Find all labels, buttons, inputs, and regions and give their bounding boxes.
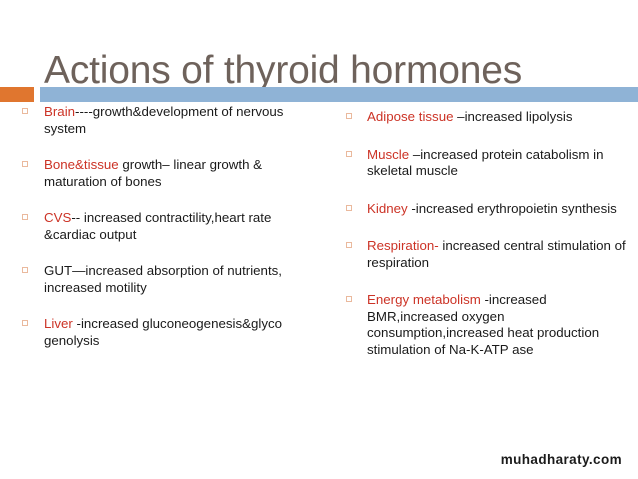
list-item-term: Liver bbox=[44, 316, 73, 331]
list-item-description: -- increased contractility,heart rate &c… bbox=[44, 210, 271, 242]
hollow-square-bullet-icon bbox=[22, 267, 28, 273]
list-item: CVS-- increased contractility,heart rate… bbox=[18, 210, 326, 243]
list-item: Energy metabolism -increased BMR,increas… bbox=[342, 292, 632, 358]
list-item-description: -increased erythropoietin synthesis bbox=[408, 201, 617, 216]
hollow-square-bullet-icon bbox=[22, 108, 28, 114]
hollow-square-bullet-icon bbox=[346, 296, 352, 302]
title-accent-divider bbox=[0, 87, 638, 102]
list-item: Bone&tissue growth– linear growth & matu… bbox=[18, 157, 326, 190]
list-item-term: Kidney bbox=[367, 201, 408, 216]
list-item: Muscle –increased protein catabolism in … bbox=[342, 147, 632, 180]
bullet-column-right: Adipose tissue –increased lipolysis Musc… bbox=[342, 104, 632, 379]
hollow-square-bullet-icon bbox=[346, 113, 352, 119]
list-item-term: Adipose tissue bbox=[367, 109, 453, 124]
bullet-column-left: Brain----growth&development of nervous s… bbox=[18, 104, 326, 369]
hollow-square-bullet-icon bbox=[346, 205, 352, 211]
list-item: Liver -increased gluconeogenesis&glyco g… bbox=[18, 316, 326, 349]
hollow-square-bullet-icon bbox=[346, 151, 352, 157]
list-item: Brain----growth&development of nervous s… bbox=[18, 104, 326, 137]
list-item-description: -increased gluconeogenesis&glyco genolys… bbox=[44, 316, 282, 348]
list-item-description: ----growth&development of nervous system bbox=[44, 104, 283, 136]
watermark-source-label: muhadharaty.com bbox=[501, 452, 622, 467]
list-item: Adipose tissue –increased lipolysis bbox=[342, 109, 632, 126]
accent-bar-blue bbox=[40, 87, 638, 102]
list-item-term: Respiration- bbox=[367, 238, 439, 253]
list-item: Kidney -increased erythropoietin synthes… bbox=[342, 201, 632, 218]
list-item-term: CVS bbox=[44, 210, 71, 225]
accent-square-orange bbox=[0, 87, 34, 102]
list-item-term: Muscle bbox=[367, 147, 409, 162]
hollow-square-bullet-icon bbox=[22, 214, 28, 220]
list-item-term: Bone&tissue bbox=[44, 157, 119, 172]
list-item-description: GUT—increased absorption of nutrients, i… bbox=[44, 263, 282, 295]
hollow-square-bullet-icon bbox=[346, 242, 352, 248]
hollow-square-bullet-icon bbox=[22, 320, 28, 326]
list-item-description: –increased lipolysis bbox=[453, 109, 572, 124]
list-item-term: Energy metabolism bbox=[367, 292, 481, 307]
list-item-term: Brain bbox=[44, 104, 75, 119]
list-item: GUT—increased absorption of nutrients, i… bbox=[18, 263, 326, 296]
hollow-square-bullet-icon bbox=[22, 161, 28, 167]
slide-canvas: Actions of thyroid hormones Brain----gro… bbox=[0, 0, 638, 479]
list-item: Respiration- increased central stimulati… bbox=[342, 238, 632, 271]
